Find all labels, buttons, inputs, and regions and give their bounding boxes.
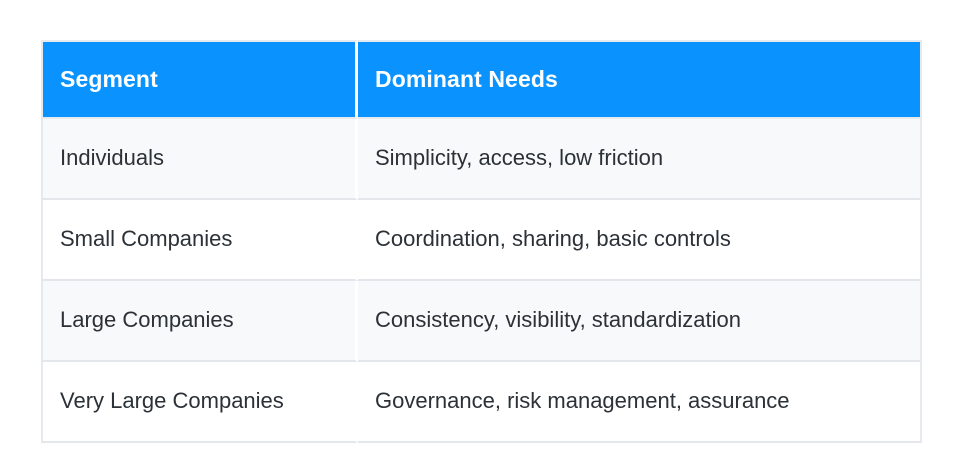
table-row: Small Companies Coordination, sharing, b… xyxy=(41,200,922,281)
table-row: Individuals Simplicity, access, low fric… xyxy=(41,119,922,200)
table-body: Individuals Simplicity, access, low fric… xyxy=(41,119,922,443)
cell-dominant-needs: Consistency, visibility, standardization xyxy=(358,281,922,362)
segment-needs-table-container: Segment Dominant Needs Individuals Simpl… xyxy=(41,40,922,436)
cell-dominant-needs: Governance, risk management, assurance xyxy=(358,362,922,443)
cell-segment: Large Companies xyxy=(41,281,358,362)
column-header-segment[interactable]: Segment xyxy=(41,40,358,119)
cell-segment: Individuals xyxy=(41,119,358,200)
table-header: Segment Dominant Needs xyxy=(41,40,922,119)
cell-segment: Very Large Companies xyxy=(41,362,358,443)
column-header-dominant-needs[interactable]: Dominant Needs xyxy=(358,40,922,119)
table-row: Large Companies Consistency, visibility,… xyxy=(41,281,922,362)
cell-dominant-needs: Simplicity, access, low friction xyxy=(358,119,922,200)
page-root: Segment Dominant Needs Individuals Simpl… xyxy=(0,0,964,476)
table-row: Very Large Companies Governance, risk ma… xyxy=(41,362,922,443)
table-header-row: Segment Dominant Needs xyxy=(41,40,922,119)
segment-needs-table: Segment Dominant Needs Individuals Simpl… xyxy=(41,40,922,443)
cell-dominant-needs: Coordination, sharing, basic controls xyxy=(358,200,922,281)
cell-segment: Small Companies xyxy=(41,200,358,281)
